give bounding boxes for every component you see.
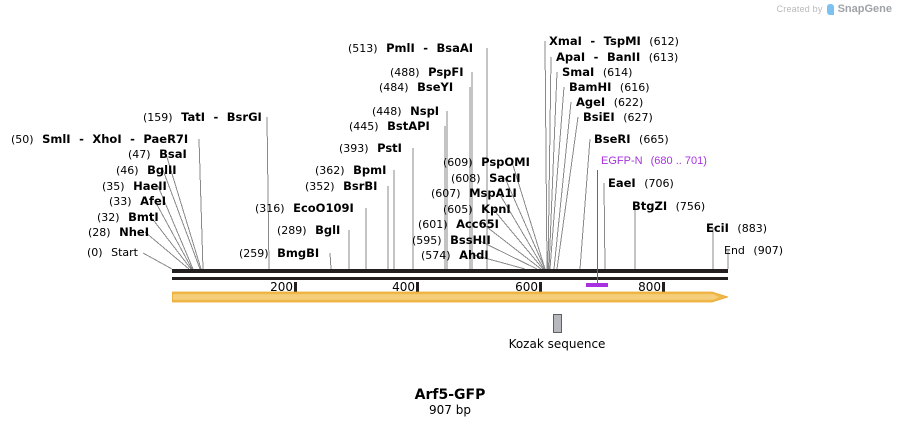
enzyme-name: BpmI [353,163,386,177]
site-label-psti[interactable]: (393) PstI [339,142,402,155]
enzyme-name: BsrGI [227,110,262,124]
site-label-bseyi[interactable]: (484) BseYI [379,81,453,94]
snapgene-watermark: Created by SnapGene [777,3,892,15]
orf-arrow-arf5-gfp[interactable] [172,291,728,303]
site-label-ahdi[interactable]: (574) AhdI [421,249,489,262]
site-position: (605) [443,203,473,216]
enzyme-name: BtgZI [632,199,667,213]
site-label-haeii[interactable]: (35) HaeII [102,180,167,193]
site-position: (665) [639,133,669,146]
site-position: (50) [11,133,34,146]
site-label-ecii[interactable]: EciI (883) [706,222,767,235]
site-label-acc65i[interactable]: (601) Acc65I [418,218,499,231]
site-position: (28) [88,226,111,239]
terminal-name: End [724,244,745,257]
name-separator: - [590,34,595,48]
site-label-apai-banii[interactable]: ApaI - BanII (613) [556,51,678,64]
enzyme-name: AhdI [459,248,489,262]
map-title: Arf5-GFP [415,387,486,403]
enzyme-name: BanII [607,50,640,64]
site-label-pspfi[interactable]: (488) PspFI [390,66,464,79]
site-label-agei[interactable]: AgeI (622) [576,96,643,109]
enzyme-name: EaeI [608,176,636,190]
name-separator: - [214,110,219,124]
site-label-pmli-bsaai[interactable]: (513) PmlI - BsaAI [348,42,473,55]
site-label-afei[interactable]: (33) AfeI [109,195,166,208]
site-position: (0) [87,246,103,259]
enzyme-name: NspI [410,104,439,118]
enzyme-name: BsrBI [343,179,377,193]
site-position: (706) [644,177,674,190]
enzyme-name: TspMI [604,34,641,48]
site-label-btgzi[interactable]: BtgZI (756) [632,200,705,213]
enzyme-name: XhoI [92,132,121,146]
site-label-ecoo109i[interactable]: (316) EcoO109I [255,202,354,215]
watermark-brand: SnapGene [838,3,892,15]
name-separator: - [594,50,599,64]
site-label-start[interactable]: (0) Start [87,247,138,259]
enzyme-name: AfeI [140,194,166,208]
feature-label-kozak-sequence[interactable]: Kozak sequence [509,337,606,351]
site-label-nhei[interactable]: (28) NheI [88,226,149,239]
site-position: (614) [603,66,633,79]
site-position: (159) [143,111,173,124]
site-label-bsshii[interactable]: (595) BssHII [412,234,491,247]
enzyme-name: SacII [489,171,520,185]
site-label-bpmi[interactable]: (362) BpmI [315,164,386,177]
site-label-nspi[interactable]: (448) NspI [372,105,439,118]
site-label-pspomi[interactable]: (609) PspOMI [443,156,530,169]
site-label-bsai[interactable]: (47) BsaI [128,148,187,161]
site-position: (609) [443,156,473,169]
enzyme-name: BsaAI [437,41,474,55]
terminal-name: Start [111,246,138,259]
enzyme-name: EcoO109I [293,201,354,215]
site-position: (47) [128,148,151,161]
site-position: (35) [102,180,125,193]
site-position: (622) [614,96,644,109]
site-position: (32) [97,211,120,224]
site-position: (601) [418,218,448,231]
site-label-smli-xhoi-paer7i[interactable]: (50) SmlI - XhoI - PaeR7I [11,133,188,146]
site-label-bseri[interactable]: BseRI (665) [594,133,669,146]
map-size: 907 bp [429,403,471,417]
enzyme-name: BsiEI [583,110,615,124]
site-position: (574) [421,249,451,262]
enzyme-name: ApaI [556,50,585,64]
feature-label-egfp-n[interactable]: EGFP-N (680 .. 701) [601,155,707,167]
site-label-tati-bsrgi[interactable]: (159) TatI - BsrGI [143,111,262,124]
site-position: (883) [737,222,767,235]
site-position: (613) [649,51,679,64]
site-label-smai[interactable]: SmaI (614) [562,66,632,79]
site-label-sacii[interactable]: (608) SacII [451,172,521,185]
site-label-bglii[interactable]: (46) BglII [116,164,177,177]
enzyme-name: Acc65I [456,217,499,231]
enzyme-name: PspFI [428,65,463,79]
enzyme-name: BseYI [417,80,453,94]
enzyme-name: AgeI [576,95,605,109]
enzyme-name: XmaI [549,34,582,48]
site-position: (46) [116,164,139,177]
site-position: (595) [412,234,442,247]
site-position: (607) [431,187,461,200]
enzyme-name: BssHII [450,233,491,247]
site-position: (608) [451,172,481,185]
site-position: (316) [255,202,285,215]
site-position: (907) [753,244,783,257]
enzyme-name: PaeR7I [143,132,188,146]
site-position: (484) [379,81,409,94]
site-position: (289) [277,224,307,237]
enzyme-name: BglII [147,163,177,177]
enzyme-name: BamHI [569,80,611,94]
site-position: (259) [239,247,269,260]
enzyme-name: TatI [181,110,205,124]
enzyme-name: NheI [119,225,149,239]
site-label-bsiei[interactable]: BsiEI (627) [583,111,653,124]
enzyme-name: BseRI [594,132,631,146]
site-position: (488) [390,66,420,79]
site-position: (362) [315,164,345,177]
site-label-mspa1i[interactable]: (607) MspA1I [431,187,517,200]
site-position: (616) [620,81,650,94]
site-position: (352) [305,180,335,193]
site-position: (445) [349,120,379,133]
enzyme-name: BstAPI [387,119,430,133]
name-separator: - [423,41,428,55]
site-position: (612) [649,35,679,48]
name-separator: - [79,132,84,146]
site-label-bsrbi[interactable]: (352) BsrBI [305,180,377,193]
watermark-prefix: Created by [777,4,823,14]
site-label-end[interactable]: End (907) [724,245,783,257]
enzyme-name: SmaI [562,65,594,79]
enzyme-name: PspOMI [481,155,530,169]
enzyme-name: BglI [315,223,340,237]
site-position: (448) [372,105,402,118]
site-position: (393) [339,142,369,155]
site-position: (513) [348,42,378,55]
site-label-bmti[interactable]: (32) BmtI [97,211,159,224]
feature-connector-egfp-n [597,170,598,284]
site-label-bstapi[interactable]: (445) BstAPI [349,120,430,133]
enzyme-name: BmgBI [277,246,319,260]
sequence-backbone-top[interactable] [172,269,728,273]
name-separator: - [130,132,135,146]
site-label-bmgbi[interactable]: (259) BmgBI [239,247,319,260]
feature-box-kozak-sequence[interactable] [553,314,562,333]
feature-name: EGFP-N [601,155,643,167]
enzyme-name: SmlI [42,132,71,146]
site-label-bamhi[interactable]: BamHI (616) [569,81,650,94]
enzyme-name: EciI [706,221,729,235]
site-position: (627) [623,111,653,124]
enzyme-name: PstI [377,141,402,155]
enzyme-name: PmlI [386,41,415,55]
site-label-kpni[interactable]: (605) KpnI [443,203,511,216]
site-label-xmai-tspmi[interactable]: XmaI - TspMI (612) [549,35,679,48]
enzyme-name: BsaI [159,147,187,161]
snapgene-logo-icon [827,4,834,15]
enzyme-name: HaeII [133,179,167,193]
site-label-bgli[interactable]: (289) BglI [277,224,340,237]
site-label-eaei[interactable]: EaeI (706) [608,177,674,190]
enzyme-name: MspA1I [469,186,517,200]
feature-range: (680 .. 701) [651,155,707,167]
enzyme-name: KpnI [481,202,511,216]
enzyme-name: BmtI [128,210,159,224]
site-position: (33) [109,195,132,208]
site-position: (756) [676,200,706,213]
